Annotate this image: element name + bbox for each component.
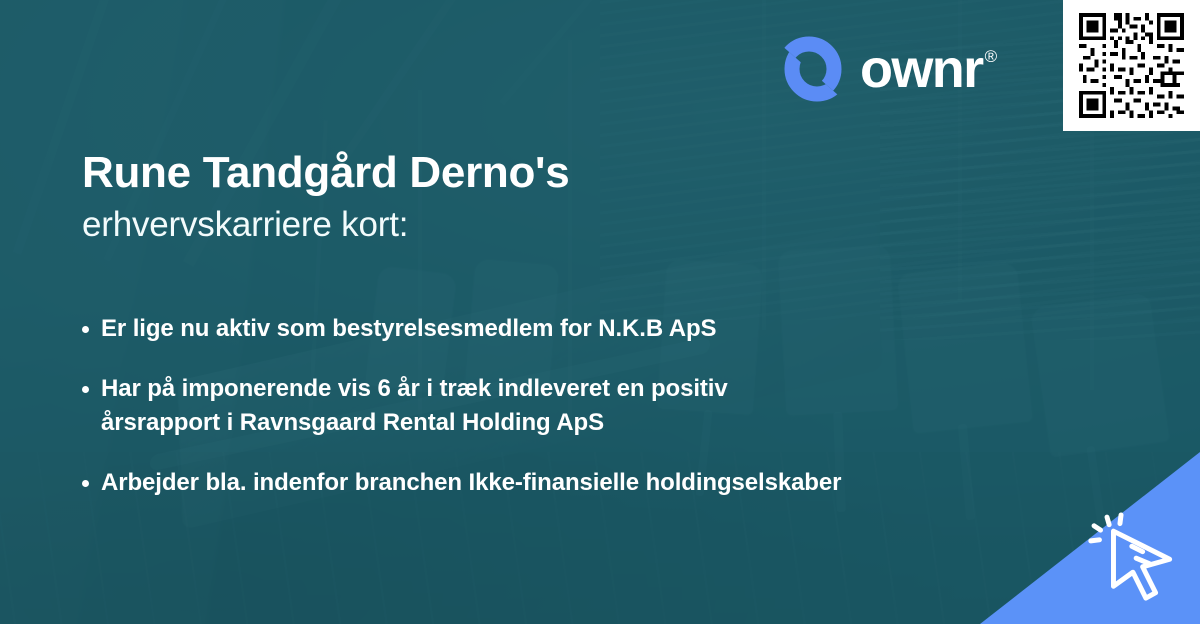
career-card: ownr ® bbox=[0, 0, 1200, 624]
bullet-dot-icon bbox=[82, 326, 89, 333]
brand-name: ownr bbox=[860, 42, 983, 96]
registered-trademark-icon: ® bbox=[985, 48, 998, 65]
list-item: Har på imponerende vis 6 år i træk indle… bbox=[82, 372, 1042, 440]
list-item: Er lige nu aktiv som bestyrelsesmedlem f… bbox=[82, 312, 1042, 346]
qr-code-panel[interactable] bbox=[1063, 0, 1200, 131]
career-facts-list: Er lige nu aktiv som bestyrelsesmedlem f… bbox=[82, 312, 1042, 526]
click-cursor-icon bbox=[1080, 502, 1188, 610]
list-item: Arbejder bla. indenfor branchen Ikke-fin… bbox=[82, 466, 1042, 500]
brand-lockup: ownr ® bbox=[780, 36, 997, 102]
bullet-dot-icon bbox=[82, 386, 89, 393]
ownr-circle-logo-icon bbox=[780, 36, 846, 102]
list-item-label: Har på imponerende vis 6 år i træk indle… bbox=[101, 372, 801, 440]
list-item-label: Er lige nu aktiv som bestyrelsesmedlem f… bbox=[101, 312, 716, 346]
brand-wordmark: ownr ® bbox=[860, 42, 997, 96]
corner-wedge bbox=[980, 452, 1200, 624]
person-name: Rune Tandgård Derno's bbox=[82, 148, 982, 197]
subtitle: erhvervskarriere kort: bbox=[82, 203, 982, 247]
qr-code-icon bbox=[1075, 9, 1188, 122]
list-item-label: Arbejder bla. indenfor branchen Ikke-fin… bbox=[101, 466, 841, 500]
page-title: Rune Tandgård Derno's erhvervskarriere k… bbox=[82, 148, 982, 247]
bullet-dot-icon bbox=[82, 480, 89, 487]
